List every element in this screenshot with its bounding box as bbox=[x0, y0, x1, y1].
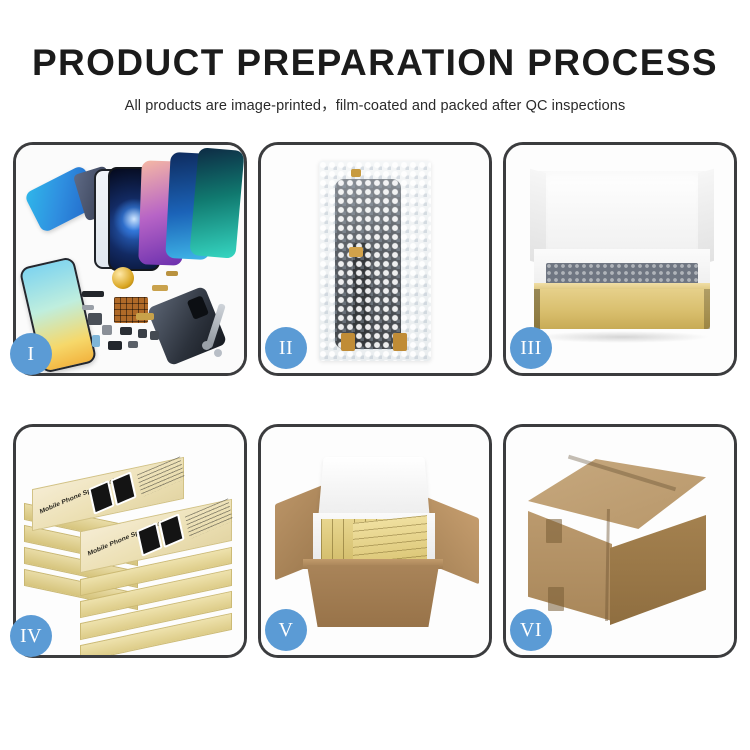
gold-coil-part-icon bbox=[112, 267, 134, 289]
carton-tape-lower-icon bbox=[548, 587, 564, 611]
carton-right-face-icon bbox=[610, 515, 706, 625]
page-header: PRODUCT PREPARATION PROCESS All products… bbox=[0, 0, 750, 115]
process-step-panel-3[interactable]: III bbox=[503, 142, 737, 376]
page-subtitle: All products are image-printed，film-coat… bbox=[0, 81, 750, 115]
step-badge-4: IV bbox=[10, 615, 52, 657]
step-badge-5: V bbox=[265, 609, 307, 651]
step-badge-3: III bbox=[510, 327, 552, 369]
step-badge-6: VI bbox=[510, 609, 552, 651]
step-badge-1: I bbox=[10, 333, 52, 375]
carton-body-icon bbox=[307, 565, 439, 627]
process-step-panel-1[interactable]: I bbox=[13, 142, 247, 376]
carton-left-face-icon bbox=[528, 511, 612, 621]
carton-tape-upper-icon bbox=[546, 519, 562, 543]
process-step-panel-4[interactable]: Mobile Phone Spare Parts Mobile Phone Sp… bbox=[13, 424, 247, 658]
process-step-grid: I II III bbox=[13, 142, 737, 676]
yellow-box-icon bbox=[534, 289, 710, 329]
bubble-bag-icon bbox=[319, 161, 431, 361]
box-stack-icon: Mobile Phone Spare Parts Mobile Phone Sp… bbox=[24, 451, 238, 637]
step-badge-2: II bbox=[265, 327, 307, 369]
step-4-image: Mobile Phone Spare Parts Mobile Phone Sp… bbox=[16, 427, 244, 655]
step-1-image bbox=[16, 145, 244, 373]
foam-lid-open-icon bbox=[318, 457, 430, 518]
phone-display-teal-icon bbox=[189, 147, 244, 259]
process-step-panel-5[interactable]: V bbox=[258, 424, 492, 658]
process-step-panel-2[interactable]: II bbox=[258, 142, 492, 376]
page-title: PRODUCT PREPARATION PROCESS bbox=[0, 0, 750, 81]
process-step-panel-6[interactable]: VI bbox=[503, 424, 737, 658]
